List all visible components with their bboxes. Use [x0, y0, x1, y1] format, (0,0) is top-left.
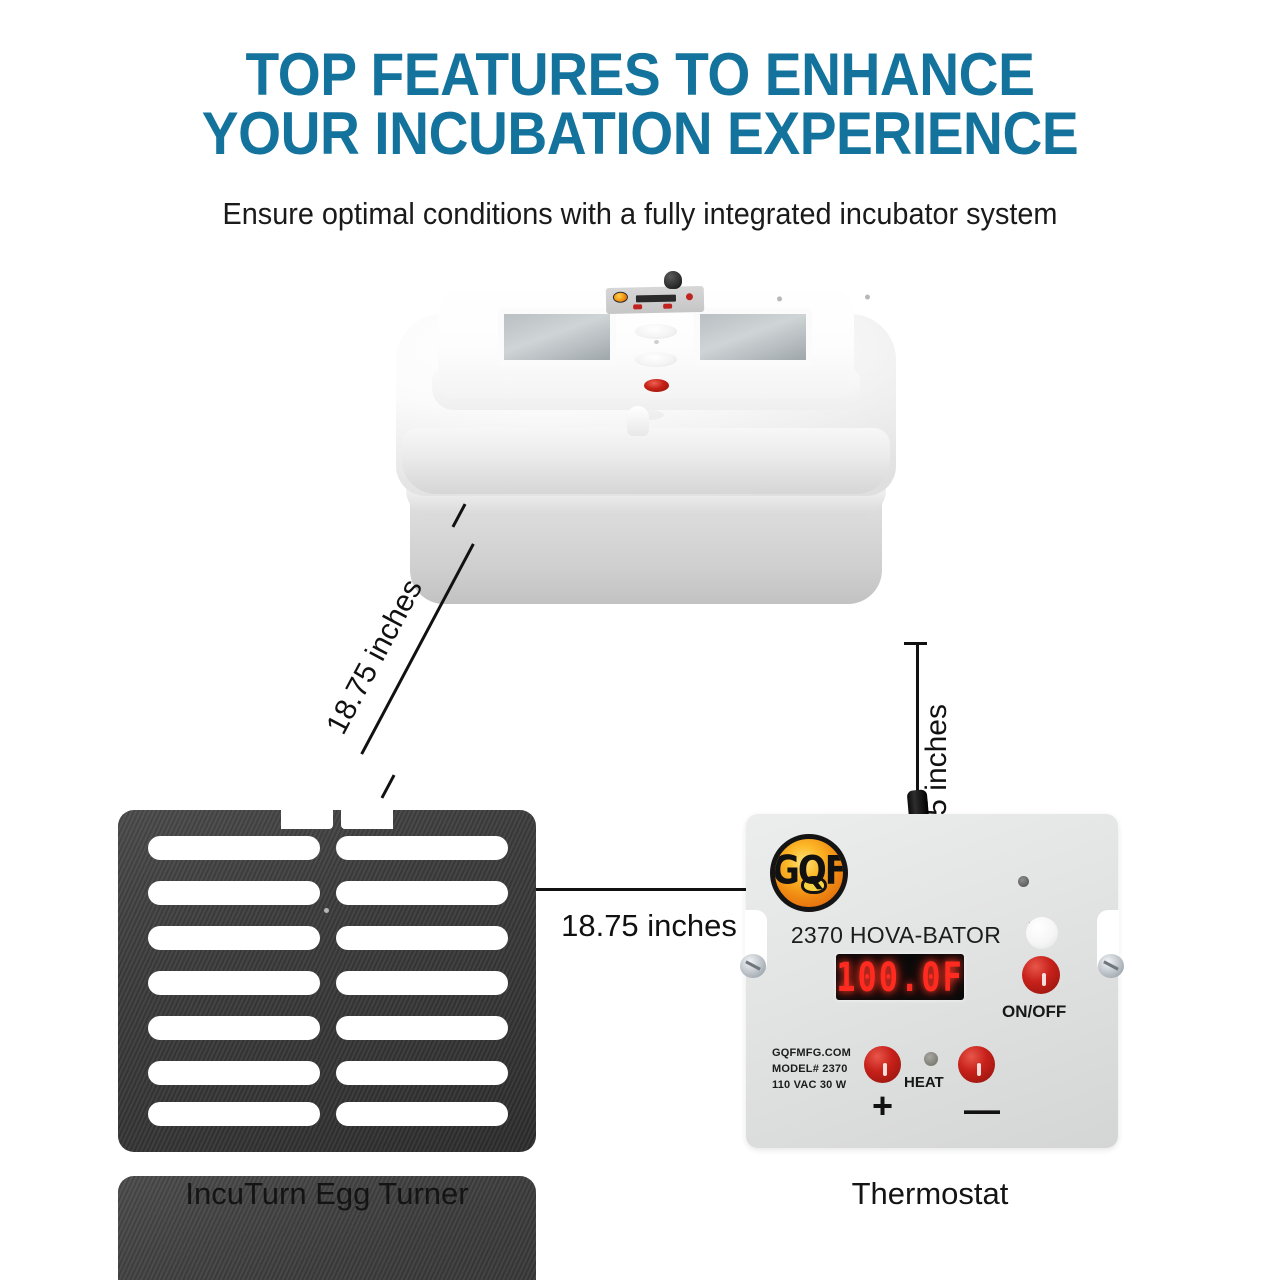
screw-icon	[740, 954, 766, 978]
indicator-light	[641, 376, 672, 395]
infographic-page: TOP FEATURES TO ENHANCE YOUR INCUBATION …	[0, 0, 1280, 1280]
turner-notch	[341, 809, 393, 829]
turner-slot	[148, 1102, 320, 1126]
onoff-label: ON/OFF	[1002, 1002, 1066, 1022]
dimension-tick	[904, 642, 927, 645]
turner-notch	[281, 809, 333, 829]
thermostat-illustration: GQF 2370 HOVA-BATOR TM 100.0F ON/OFF HEA…	[730, 802, 1130, 1160]
thermostat-fine-print: GQFMFG.COM MODEL# 2370 110 VAC 30 W	[772, 1046, 851, 1094]
heat-label: HEAT	[904, 1074, 944, 1091]
sensor-hole-icon	[1018, 876, 1029, 887]
turner-slot	[148, 971, 320, 995]
viewing-window-right	[694, 308, 812, 366]
lid-handle-bump	[627, 406, 649, 436]
onoff-button[interactable]	[1022, 956, 1060, 994]
plus-symbol: +	[872, 1088, 893, 1124]
egg-turner-caption: IncuTurn Egg Turner	[118, 1176, 536, 1280]
turner-slot	[336, 971, 508, 995]
led-display-small	[636, 295, 676, 303]
page-subtitle: Ensure optimal conditions with a fully i…	[45, 196, 1235, 232]
incubator-hero: 18.75 inches 9.5 inches 18.75 inches	[0, 250, 1280, 710]
turner-slot	[148, 836, 320, 860]
viewing-window-left	[498, 308, 616, 366]
led-display: 100.0F	[836, 954, 964, 1000]
plus-button-small[interactable]	[633, 304, 642, 309]
screw-icon	[1098, 954, 1124, 978]
vent-hole-icon	[654, 340, 659, 344]
panel-screw-icon	[865, 294, 870, 299]
thermostat-panel: GQF 2370 HOVA-BATOR TM 100.0F ON/OFF HEA…	[746, 814, 1118, 1148]
minus-symbol: —	[964, 1092, 1000, 1128]
dimension-depth: 18.75 inches	[330, 520, 530, 800]
turner-screw-icon	[324, 908, 329, 913]
turner-slot	[148, 881, 320, 905]
white-plug-icon	[1026, 917, 1058, 949]
turner-slot	[148, 1061, 320, 1085]
turner-slot	[336, 1102, 508, 1126]
turner-slot	[336, 926, 508, 950]
gqf-logo-text: GQF	[772, 848, 846, 894]
increase-temperature-button[interactable]	[864, 1046, 901, 1083]
egg-turner-illustration	[118, 810, 536, 1160]
turner-slot	[336, 1061, 508, 1085]
thermostat-caption: Thermostat	[730, 1176, 1130, 1212]
turner-slot	[148, 1016, 320, 1040]
page-title: TOP FEATURES TO ENHANCE YOUR INCUBATION …	[51, 46, 1229, 164]
gqf-logo-icon	[613, 292, 628, 303]
decrease-temperature-button[interactable]	[958, 1046, 995, 1083]
incubator-control-panel[interactable]	[606, 286, 705, 314]
heat-indicator-led	[924, 1052, 938, 1066]
incubator-lid-skirt	[402, 428, 890, 494]
panel-screw-icon	[777, 296, 782, 301]
egg-turner-frame	[118, 810, 536, 1152]
gqf-logo-icon: GQF	[770, 834, 848, 912]
thermostat-model-title: 2370 HOVA-BATOR	[746, 922, 1046, 949]
vent-plug-lower[interactable]	[635, 352, 677, 367]
turner-slot	[148, 926, 320, 950]
turner-slot	[336, 1016, 508, 1040]
features-row: IncuTurn Egg Turner GQF 2370 HOVA-BATOR …	[0, 790, 1280, 1260]
turner-slot	[336, 881, 508, 905]
onoff-button-small[interactable]	[686, 293, 693, 300]
incubator-top-face	[438, 280, 854, 398]
temperature-readout: 100.0F	[836, 954, 964, 1000]
minus-button-small[interactable]	[663, 304, 672, 309]
vent-plug-upper[interactable]	[635, 324, 677, 339]
turner-slot	[336, 836, 508, 860]
cord-grommet-icon	[664, 271, 682, 289]
